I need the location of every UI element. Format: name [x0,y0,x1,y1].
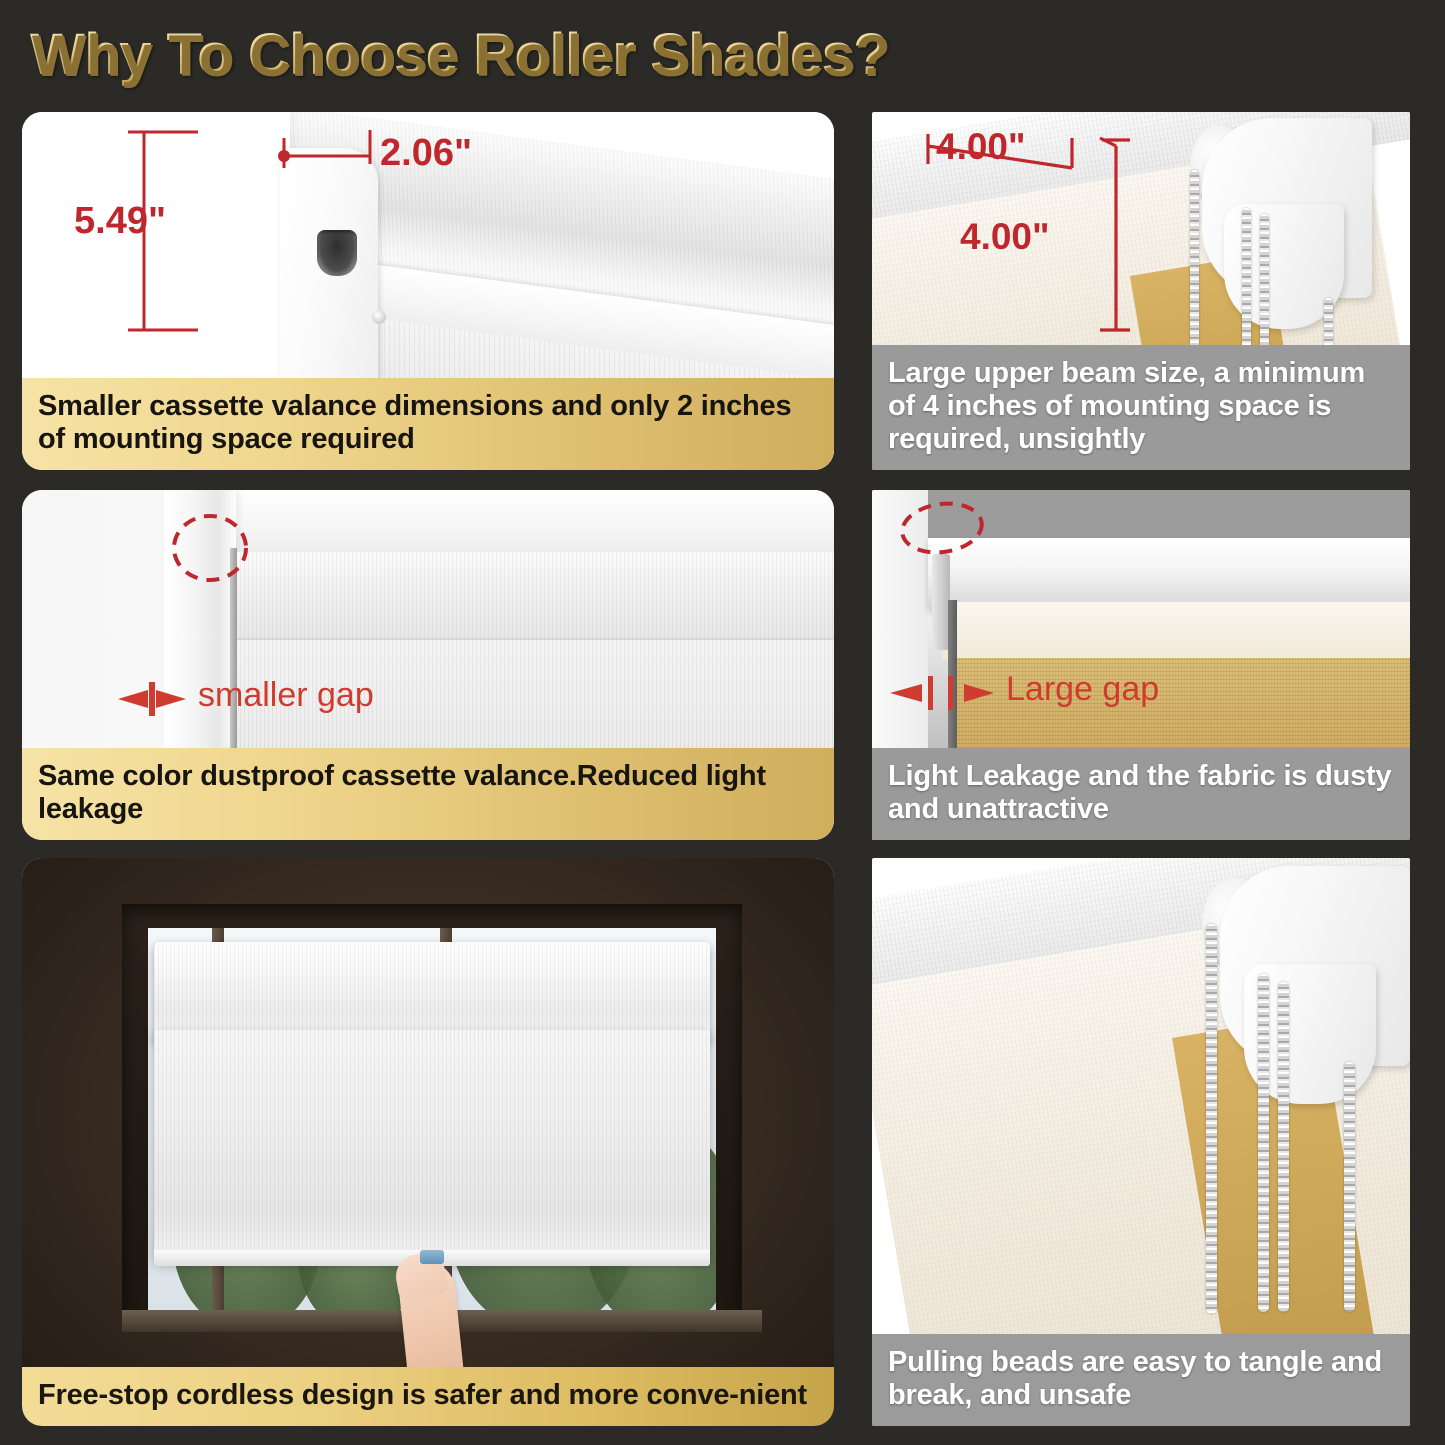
bracket-slot [317,230,357,276]
cassette-valance [154,942,710,1042]
large-gap-label: Large gap [1006,670,1159,709]
beam-height-label: 4.00" [960,216,1050,258]
bead-chain-3 [1278,982,1289,1312]
panel-5-caption: Free-stop cordless design is safer and m… [22,1367,834,1426]
height-dimension-label: 5.49" [74,200,166,243]
panel-4-caption: Light Leakage and the fabric is dusty an… [872,748,1410,840]
panel-5-photo [22,858,834,1426]
panel-large-beam: 4.00" 4.00" Large upper beam size, a min… [872,112,1410,470]
panel-cordless-design: Free-stop cordless design is safer and m… [22,858,834,1426]
roller-shade-fabric [154,1030,710,1260]
pull-tab [420,1250,444,1264]
panel-3-caption: Same color dustproof cassette valance.Re… [22,748,834,840]
smaller-gap-label: smaller gap [198,676,374,715]
panel-1-caption: Smaller cassette valance dimensions and … [22,378,834,470]
cassette-valance [236,552,834,648]
panel-light-leakage: Large gap Light Leakage and the fabric i… [872,490,1410,840]
bracket-screw-small [372,310,386,324]
panel-dustproof-valance: smaller gap Same color dustproof cassett… [22,490,834,840]
panel-2-caption: Large upper beam size, a minimum of 4 in… [872,345,1410,470]
cream-band [942,602,1410,660]
width-dimension-label: 2.06" [380,132,472,175]
bead-chain-2 [1258,974,1269,1312]
bead-chain-4 [1344,1062,1355,1312]
beam-width-label: 4.00" [936,126,1026,168]
panel-pulling-beads: Pulling beads are easy to tangle and bre… [872,858,1410,1426]
bead-chain-1 [1206,924,1217,1314]
panel-smaller-cassette: 5.49" 2.06" Smaller cassette valance dim… [22,112,834,470]
upper-rail [928,538,1410,610]
comparison-grid: 5.49" 2.06" Smaller cassette valance dim… [0,0,1445,1445]
panel-6-caption: Pulling beads are easy to tangle and bre… [872,1334,1410,1426]
